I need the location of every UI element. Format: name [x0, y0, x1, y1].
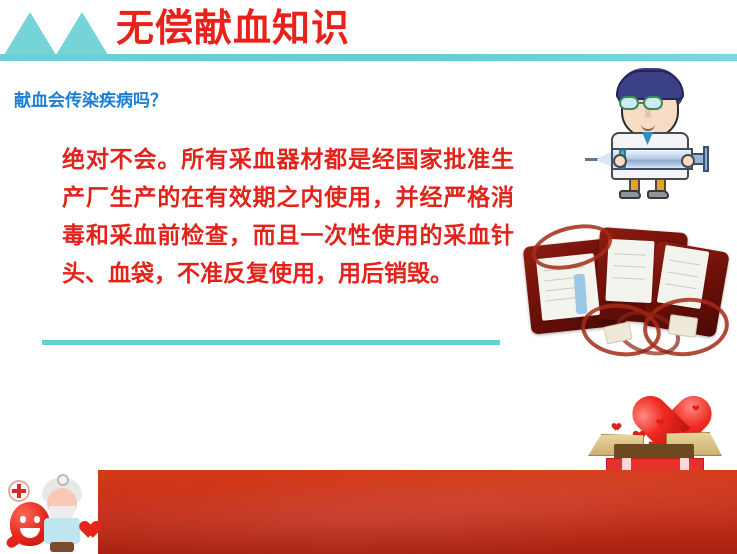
header-rule	[0, 54, 737, 61]
small-heart-icon	[655, 417, 662, 423]
doctor-glasses-bridge-icon	[639, 102, 645, 104]
mascot-held-heart-icon	[76, 514, 96, 532]
doctor-nose-icon	[645, 110, 651, 118]
doctor-with-syringe-illustration	[585, 68, 715, 203]
triangle-left-icon	[4, 12, 56, 55]
footer-banner	[98, 470, 737, 554]
doctor-hand-right-icon	[681, 154, 695, 168]
answer-paragraph: 绝对不会。所有采血器材都是经国家批准生产厂生产的在有效期之内使用，并经严格消毒和…	[62, 141, 514, 293]
tube-connector-2	[668, 314, 699, 338]
doctor-shoe-right-icon	[647, 190, 669, 199]
red-cross-icon	[8, 480, 30, 502]
mascot-smile-icon	[20, 528, 40, 538]
mascot-doctor-legs-icon	[50, 542, 74, 552]
question-heading: 献血会传染疾病吗？	[14, 86, 167, 111]
blood-bag-label-2	[605, 239, 654, 303]
syringe-flange-icon	[703, 146, 709, 172]
small-heart-icon	[610, 420, 619, 428]
header-triangle-decoration	[4, 12, 110, 55]
content-divider	[42, 340, 500, 345]
mascot-arm-icon	[5, 532, 24, 549]
mascot-illustration	[2, 462, 98, 554]
doctor-hand-left-icon	[613, 154, 627, 168]
doctor-glasses-right-icon	[643, 96, 663, 110]
blood-bags-photo	[519, 212, 733, 358]
head-mirror-icon	[57, 474, 69, 486]
triangle-right-icon	[56, 12, 108, 55]
mascot-eye-right-icon	[34, 516, 40, 523]
small-heart-icon	[691, 403, 697, 409]
large-heart-icon	[622, 372, 690, 434]
mascot-eye-left-icon	[20, 516, 26, 523]
slide-header: 无偿献血知识	[0, 0, 737, 62]
doctor-shoe-left-icon	[619, 190, 641, 199]
doctor-glasses-left-icon	[619, 96, 639, 110]
page-title: 无偿献血知识	[116, 3, 350, 53]
slide: 无偿献血知识 献血会传染疾病吗？ 绝对不会。所有采血器材都是经国家批准生产厂生产…	[0, 0, 737, 554]
mascot-doctor-coat-icon	[44, 518, 80, 544]
